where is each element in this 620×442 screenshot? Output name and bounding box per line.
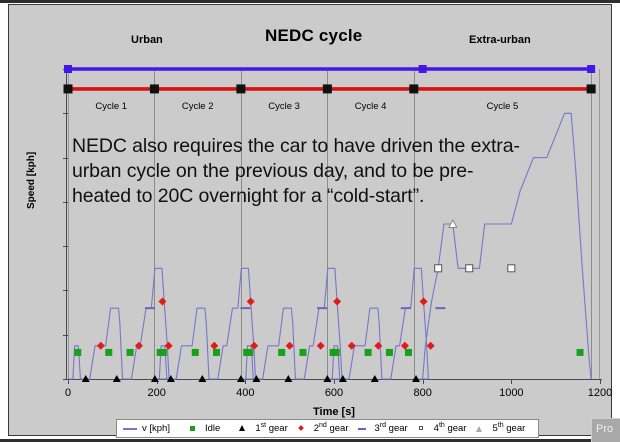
gear-marker-idle: [405, 349, 412, 356]
gear-marker-gear1: [198, 375, 206, 382]
gear-marker-gear1: [371, 375, 379, 382]
legend-item[interactable]: 5th gear: [473, 422, 525, 434]
legend-item[interactable]: 1st gear: [236, 422, 287, 434]
slide-screenshot: NEDC cycle Urban Extra-urban Speed [kph]…: [0, 0, 620, 442]
top-band-blue-marker: [419, 65, 427, 73]
legend-item[interactable]: Idle: [186, 423, 220, 434]
corner-pro-button[interactable]: Pro: [591, 418, 620, 442]
x-axis-title: Time [s]: [68, 406, 600, 418]
top-band-blue-marker: [587, 65, 595, 73]
page-title: NEDC cycle: [265, 26, 362, 46]
gear-marker-idle: [160, 349, 167, 356]
dash-icon: [355, 424, 369, 433]
x-axis-tick-label: 1200: [580, 387, 620, 399]
top-band-red-marker: [236, 84, 245, 93]
chart-series-layer: [68, 69, 600, 380]
legend-item-label: 1st gear: [255, 422, 287, 434]
gear-marker-idle: [386, 349, 393, 356]
legend-item-label: 4th gear: [434, 422, 467, 434]
gear-marker-gear4: [508, 265, 515, 272]
gear-marker-gear2_high: [158, 298, 166, 306]
gear-marker-idle: [365, 349, 372, 356]
region-label-extra-urban: Extra-urban: [469, 34, 531, 46]
chart-plot-area: Speed [kph] Time [s] 020406080100120140 …: [68, 69, 600, 379]
x-axis-tick-label: 0: [48, 387, 88, 399]
gear-marker-idle: [299, 349, 306, 356]
gear-marker-gear1: [113, 375, 121, 382]
x-axis-tick-label: 400: [225, 387, 265, 399]
gear-marker-idle: [213, 349, 220, 356]
x-axis-tick-label: 600: [314, 387, 354, 399]
legend-item-label: 2nd gear: [314, 422, 349, 434]
gear-marker-gear2: [317, 342, 325, 350]
x-axis-tick-label: 200: [137, 387, 177, 399]
gear-marker-gear2: [165, 342, 173, 350]
gear-marker-idle: [246, 349, 253, 356]
chart-legend: v [kph]Idle1st gear2nd gear3rd gear4th g…: [116, 419, 539, 438]
legend-item[interactable]: 4th gear: [415, 422, 467, 434]
overlay-annotation-text: NEDC also requires the car to have drive…: [72, 134, 532, 209]
square-filled-icon: [186, 424, 200, 433]
top-band-red-marker: [409, 84, 418, 93]
gear-marker-gear2: [286, 342, 294, 350]
y-axis-title: Speed [kph]: [26, 152, 37, 209]
legend-item-label: 5th gear: [492, 422, 525, 434]
legend-item-label: Idle: [205, 423, 220, 434]
gear-marker-gear2: [210, 342, 218, 350]
top-band-red-marker: [587, 84, 596, 93]
gear-marker-idle: [278, 349, 285, 356]
gear-marker-idle: [105, 349, 112, 356]
gear-marker-idle: [577, 349, 584, 356]
x-axis-tick-label: 800: [403, 387, 443, 399]
gear-marker-gear1: [284, 375, 292, 382]
gear-marker-gear2: [427, 342, 435, 350]
gear-marker-gear4: [466, 265, 473, 272]
line-icon: [123, 424, 137, 433]
region-label-urban: Urban: [131, 34, 163, 46]
triangle-open-icon: [473, 424, 487, 433]
gear-marker-idle: [74, 349, 81, 356]
square-open-icon: [415, 424, 429, 433]
top-band-blue-marker: [64, 65, 72, 73]
x-axis-tick-mark: [600, 379, 601, 384]
triangle-filled-icon: [236, 424, 250, 433]
legend-item-label: v [kph]: [142, 423, 170, 434]
gear-marker-idle: [192, 349, 199, 356]
gear-marker-gear4: [435, 265, 442, 272]
top-border-rule: [0, 0, 620, 3]
top-band-red-marker: [150, 84, 159, 93]
gear-marker-gear2: [97, 342, 105, 350]
top-band-red-marker: [323, 84, 332, 93]
legend-item-label: 3rd gear: [374, 422, 407, 434]
gear-marker-idle: [127, 349, 134, 356]
gear-marker-gear2: [348, 342, 356, 350]
gear-marker-gear2_high: [420, 298, 428, 306]
gear-marker-idle: [333, 349, 340, 356]
gear-marker-gear2_high: [247, 298, 255, 306]
gear-marker-gear2: [401, 342, 409, 350]
diamond-filled-icon: [295, 424, 309, 433]
legend-item[interactable]: 2nd gear: [295, 422, 349, 434]
gear-marker-gear2: [374, 342, 382, 350]
legend-item[interactable]: 3rd gear: [355, 422, 407, 434]
y-axis-line: [66, 69, 67, 380]
legend-item[interactable]: v [kph]: [123, 423, 170, 434]
top-band-red-marker: [64, 84, 73, 93]
slide-canvas: NEDC cycle Urban Extra-urban Speed [kph]…: [10, 6, 610, 434]
x-axis-tick-label: 1000: [491, 387, 531, 399]
gear-marker-gear2_high: [333, 298, 341, 306]
